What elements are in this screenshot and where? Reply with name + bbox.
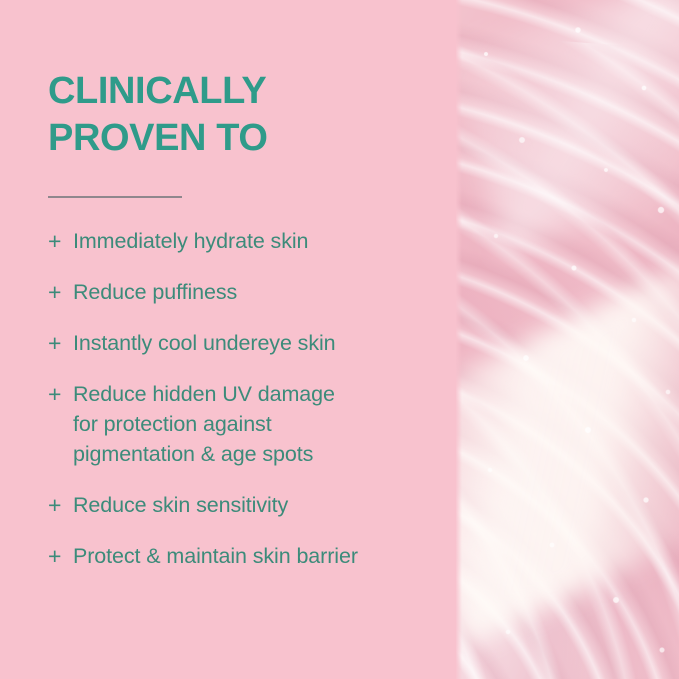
- plus-icon: +: [48, 490, 73, 520]
- list-item: + Reduce puffiness: [48, 277, 448, 307]
- photo-left-feather: [456, 0, 462, 679]
- claims-panel: CLINICALLY PROVEN TO + Immediately hydra…: [0, 0, 456, 679]
- gel-bubbles: [456, 0, 679, 679]
- plus-icon: +: [48, 277, 73, 307]
- product-claims-graphic: CLINICALLY PROVEN TO + Immediately hydra…: [0, 0, 679, 679]
- list-item: + Reduce skin sensitivity: [48, 490, 448, 520]
- benefit-list: + Immediately hydrate skin + Reduce puff…: [48, 226, 448, 571]
- benefit-text: Reduce puffiness: [73, 277, 448, 307]
- heading-divider: [48, 196, 182, 198]
- plus-icon: +: [48, 226, 73, 256]
- list-item: + Instantly cool undereye skin: [48, 328, 448, 358]
- plus-icon: +: [48, 379, 73, 409]
- benefit-text: Protect & maintain skin barrier: [73, 541, 448, 571]
- list-item: + Protect & maintain skin barrier: [48, 541, 448, 571]
- list-item: + Immediately hydrate skin: [48, 226, 448, 256]
- benefit-text: Immediately hydrate skin: [73, 226, 448, 256]
- benefit-text: Reduce hidden UV damage for protection a…: [73, 379, 448, 469]
- benefit-text: Instantly cool undereye skin: [73, 328, 448, 358]
- plus-icon: +: [48, 541, 73, 571]
- plus-icon: +: [48, 328, 73, 358]
- page-title: CLINICALLY PROVEN TO: [48, 68, 448, 162]
- benefit-text: Reduce skin sensitivity: [73, 490, 448, 520]
- list-item: + Reduce hidden UV damage for protection…: [48, 379, 448, 469]
- gel-texture-photo: [456, 0, 679, 679]
